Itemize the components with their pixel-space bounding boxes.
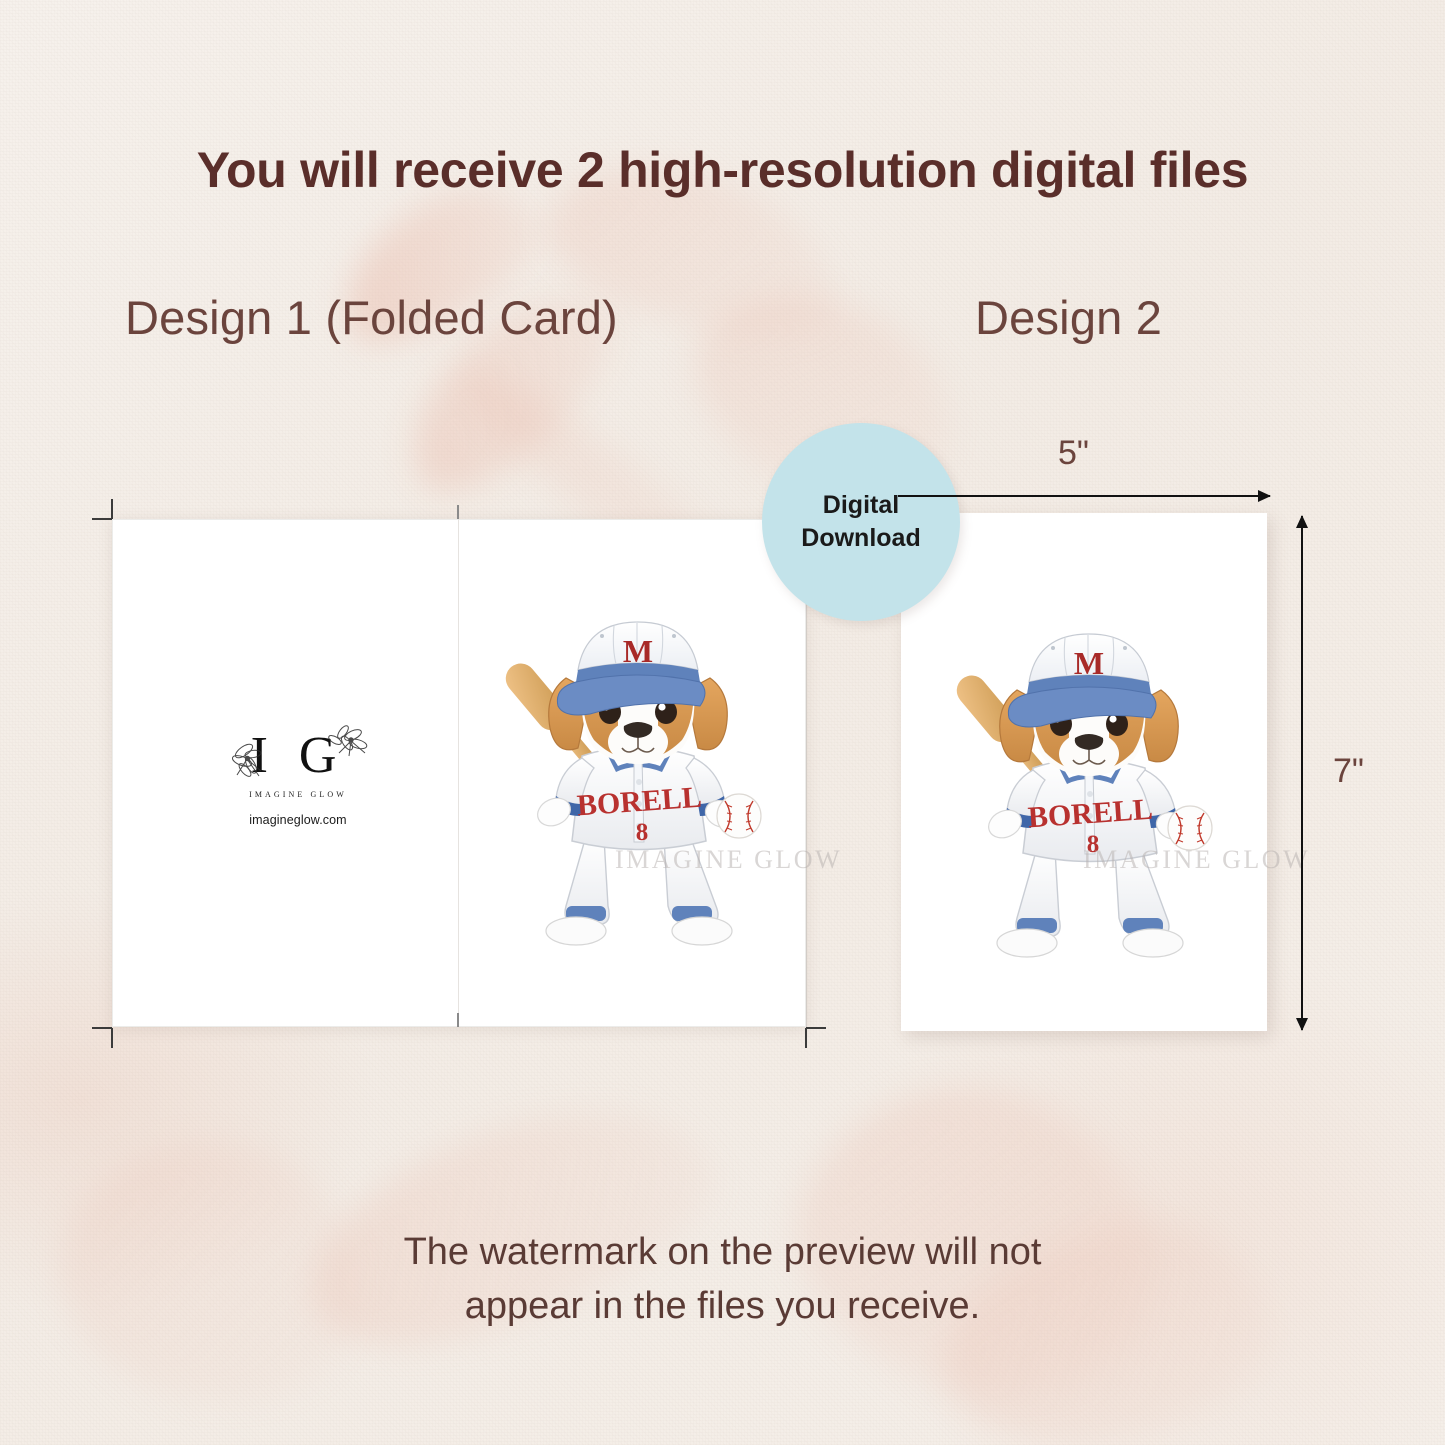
flower-icon: [231, 737, 269, 786]
logo-url: imagineglow.com: [233, 813, 363, 827]
design-1-label: Design 1 (Folded Card): [125, 290, 618, 345]
logo-mark: I G: [233, 727, 363, 789]
svg-text:M: M: [623, 633, 653, 669]
design-2-label: Design 2: [975, 290, 1162, 345]
page-headline: You will receive 2 high-resolution digit…: [0, 141, 1445, 199]
flower-icon: [323, 723, 369, 768]
digital-download-badge: Digital Download: [762, 423, 960, 621]
logo-tagline: IMAGINE GLOW: [233, 790, 363, 799]
disclaimer-line-1: The watermark on the preview will not: [0, 1226, 1445, 1280]
fold-crop-mark: [457, 1013, 459, 1027]
crop-mark: [805, 1028, 807, 1048]
height-dimension-label: 7": [1333, 752, 1364, 791]
badge-line-1: Digital: [823, 489, 899, 522]
badge-line-2: Download: [801, 522, 920, 555]
baseball-puppy-illustration: BORELL 8 M: [494, 606, 774, 951]
fold-crop-mark: [457, 505, 459, 519]
card-fold-line: [458, 519, 459, 1027]
width-dimension-arrow: [898, 495, 1270, 497]
crop-mark: [111, 499, 113, 519]
baseball-puppy-illustration: BORELL 8 M: [945, 618, 1225, 963]
crop-mark: [111, 1028, 113, 1048]
imagine-glow-logo: I G IMAGINE GLOW imagineglow.com: [233, 727, 363, 827]
poster-canvas: You will receive 2 high-resolution digit…: [0, 0, 1445, 1445]
svg-text:8: 8: [1087, 831, 1100, 858]
disclaimer-line-2: appear in the files you receive.: [0, 1280, 1445, 1334]
crop-mark: [806, 1027, 826, 1029]
crop-mark: [92, 1027, 112, 1029]
svg-text:8: 8: [636, 819, 649, 846]
watermark-disclaimer: The watermark on the preview will not ap…: [0, 1226, 1445, 1334]
width-dimension-label: 5": [1058, 434, 1089, 473]
crop-mark: [92, 518, 112, 520]
svg-text:M: M: [1074, 645, 1104, 681]
height-dimension-arrow: [1301, 516, 1303, 1030]
